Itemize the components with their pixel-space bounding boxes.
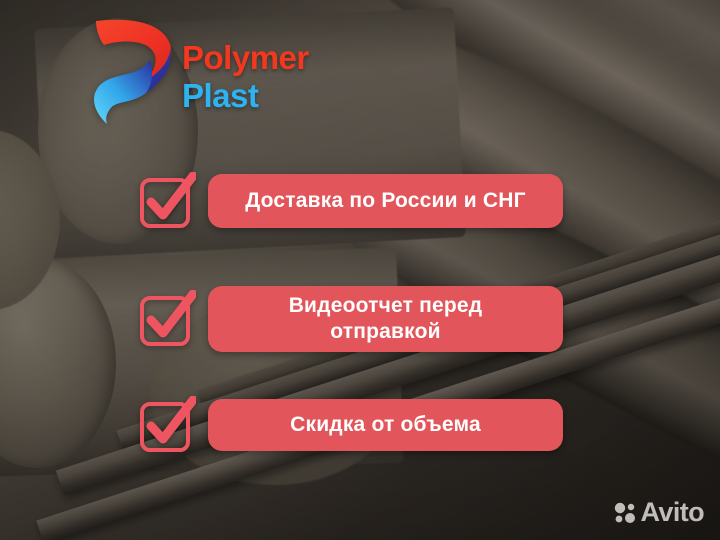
feature-badge-video-report: Видеоотчет перед отправкой [208,286,563,352]
feature-label: Видеоотчет перед отправкой [289,293,483,344]
feature-item-video-report: Видеоотчет перед отправкой [138,286,563,352]
feature-item-volume-discount: Скидка от объема [138,396,563,454]
feature-label: Доставка по России и СНГ [245,189,526,213]
feature-label-line-2: отправкой [330,320,440,343]
avito-wordmark: Avito [641,499,705,526]
feature-badge-volume-discount: Скидка от объема [208,399,563,451]
feature-item-delivery: Доставка по России и СНГ [138,172,563,230]
feature-list: Доставка по России и СНГ Видеоотчет пере… [0,0,720,540]
checkbox-checked-icon [138,172,196,230]
feature-label-line-1: Видеоотчет перед [289,294,483,317]
checkbox-checked-icon [138,290,196,348]
checkbox-checked-icon [138,396,196,454]
avito-watermark: Avito [614,499,705,526]
promo-image: Polymer Plast Доставка по России и СНГ В… [0,0,720,540]
feature-label: Скидка от объема [290,413,481,437]
avito-dots-icon [614,502,636,524]
feature-badge-delivery: Доставка по России и СНГ [208,174,563,228]
